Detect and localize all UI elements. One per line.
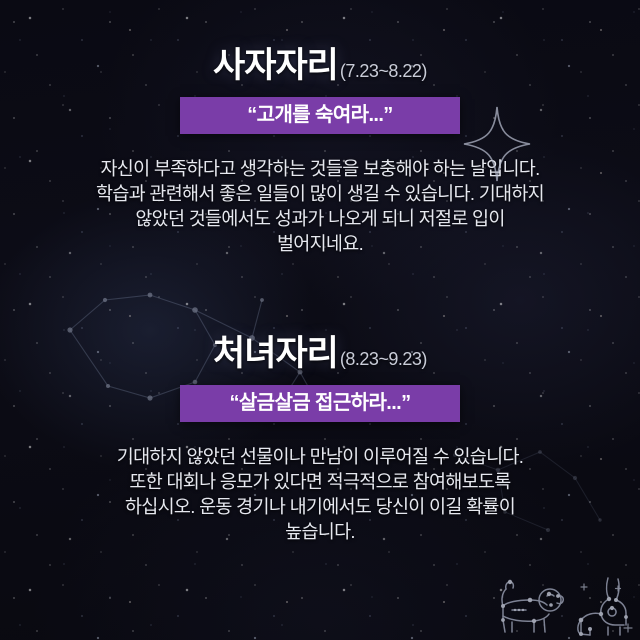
rabbit-constellation-icon — [578, 578, 626, 635]
sign-date-range: (7.23~8.22) — [340, 61, 427, 82]
body-line: 또한 대회나 응모가 있다면 적극적으로 참여해보도록 — [33, 469, 607, 494]
keyword-banner-text: “고개를 숙여라...” — [247, 105, 392, 125]
body-line: 않았던 것들에서도 성과가 나오게 되니 저절로 입이 — [33, 206, 607, 231]
keyword-banner-text: “살금살금 접근하라...” — [229, 393, 410, 413]
keyword-banner: “고개를 숙여라...” — [180, 97, 460, 134]
body-line: 기대하지 않았던 선물이나 만남이 이루어질 수 있습니다. — [33, 444, 607, 469]
fortune-body-text: 자신이 부족하다고 생각하는 것들을 보충해야 하는 날입니다. 학습과 관련해… — [33, 156, 607, 256]
horoscope-section-leo: 사자자리 (7.23~8.22) “고개를 숙여라...” 자신이 부족하다고 … — [0, 48, 640, 256]
body-line: 자신이 부족하다고 생각하는 것들을 보충해야 하는 날입니다. — [33, 156, 607, 181]
lion-constellation-icon — [502, 582, 563, 632]
horoscope-card: 사자자리 (7.23~8.22) “고개를 숙여라...” 자신이 부족하다고 … — [0, 0, 640, 640]
body-line: 하십시오. 운동 경기나 내기에서도 당신이 이길 확률이 — [33, 494, 607, 519]
body-line: 학습과 관련해서 좋은 일들이 많이 생길 수 있습니다. 기대하지 — [33, 181, 607, 206]
fortune-body-text: 기대하지 않았던 선물이나 만남이 이루어질 수 있습니다. 또한 대회나 응모… — [33, 444, 607, 544]
horoscope-section-virgo: 처녀자리 (8.23~9.23) “살금살금 접근하라...” 기대하지 않았던… — [0, 336, 640, 544]
sign-name: 처녀자리 — [213, 336, 338, 373]
sign-date-range: (8.23~9.23) — [340, 349, 427, 370]
body-line: 벌어지네요. — [33, 231, 607, 256]
keyword-banner: “살금살금 접근하라...” — [180, 385, 460, 422]
sign-name: 사자자리 — [213, 48, 338, 85]
banner-wrap: “고개를 숙여라...” — [0, 97, 640, 134]
banner-wrap: “살금살금 접근하라...” — [0, 385, 640, 422]
body-line: 높습니다. — [33, 519, 607, 544]
zodiac-figures-decoration — [492, 572, 640, 640]
sign-title-row: 사자자리 (7.23~8.22) — [0, 48, 640, 85]
sign-title-row: 처녀자리 (8.23~9.23) — [0, 336, 640, 373]
